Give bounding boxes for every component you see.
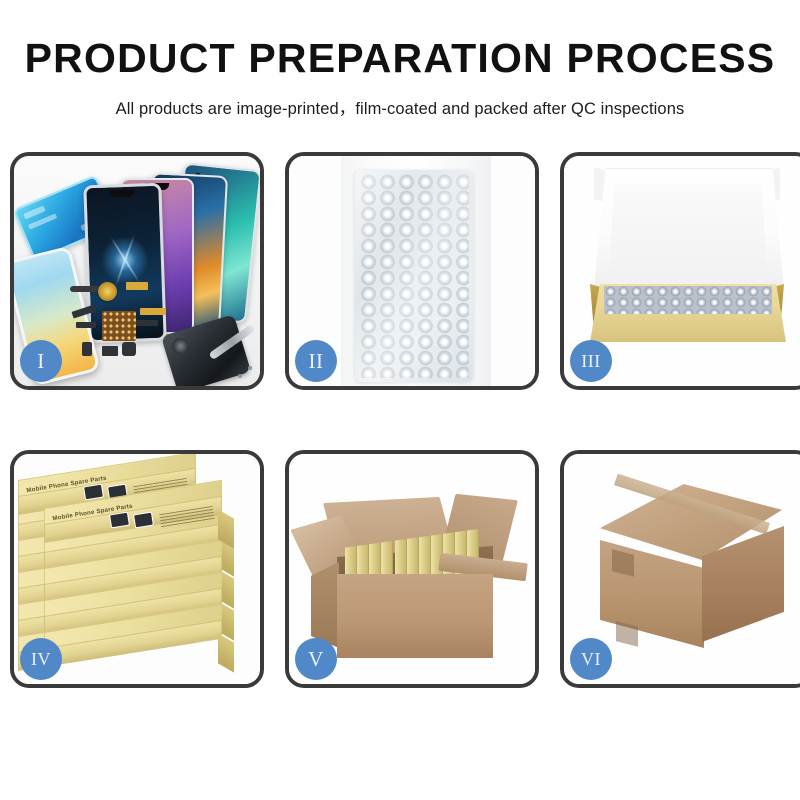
flex-cable-gold-2	[140, 308, 166, 315]
process-step-panel-3: III	[560, 152, 800, 390]
retail-box-top-front: Mobile Phone Spare Parts	[44, 508, 220, 542]
connector-part	[102, 346, 118, 356]
process-step-panel-5: V	[285, 450, 539, 688]
process-step-panel-2: II	[285, 152, 539, 390]
page-title: PRODUCT PREPARATION PROCESS	[0, 38, 800, 79]
flex-cable-3	[136, 320, 158, 326]
step-badge-4: IV	[20, 638, 62, 680]
screw-part-1	[248, 366, 252, 370]
carton-side-panel	[311, 562, 339, 648]
product-preparation-infographic: PRODUCT PREPARATION PROCESS All products…	[0, 0, 800, 800]
camera-module-part	[82, 342, 92, 356]
bubble-bag	[355, 170, 473, 382]
process-step-panel-1: I	[10, 152, 264, 390]
wireless-coil-part	[98, 282, 117, 301]
phone-parts-assortment-image: I	[14, 156, 260, 386]
header: PRODUCT PREPARATION PROCESS All products…	[0, 0, 800, 119]
bag-sheen	[355, 170, 473, 382]
screw-part-2	[238, 374, 242, 378]
step-badge-3: III	[570, 340, 612, 382]
retail-box-fr-4	[44, 632, 220, 666]
chip-grid-part	[102, 311, 136, 341]
process-step-panel-6: VI	[560, 450, 800, 688]
process-step-panel-4: Mobile Phone Spare Parts Mobile Phone Sp…	[10, 450, 264, 688]
carton-front-panel	[337, 574, 493, 658]
mailer-box-lid-inner	[608, 184, 768, 286]
flex-cable-2	[76, 322, 96, 328]
step-badge-6: VI	[570, 638, 612, 680]
carton-tab-lower	[616, 621, 638, 646]
step-badge-5: V	[295, 638, 337, 680]
page-subtitle: All products are image-printed，film-coat…	[0, 95, 800, 119]
bubble-wrapped-contents	[604, 286, 772, 314]
step-badge-1: I	[20, 340, 62, 382]
earpiece-part	[70, 286, 100, 292]
open-mailer-box-image: III	[564, 156, 800, 386]
flex-cable-gold-1	[126, 282, 148, 290]
process-step-grid: I II	[10, 152, 792, 726]
bubble-wrap-bag-image: II	[289, 156, 535, 386]
sealed-shipping-carton-image: VI	[564, 454, 800, 684]
step-badge-2: II	[295, 340, 337, 382]
speaker-part	[122, 342, 136, 356]
open-shipping-carton-image: V	[289, 454, 535, 684]
stacked-retail-boxes-image: Mobile Phone Spare Parts Mobile Phone Sp…	[14, 454, 260, 684]
